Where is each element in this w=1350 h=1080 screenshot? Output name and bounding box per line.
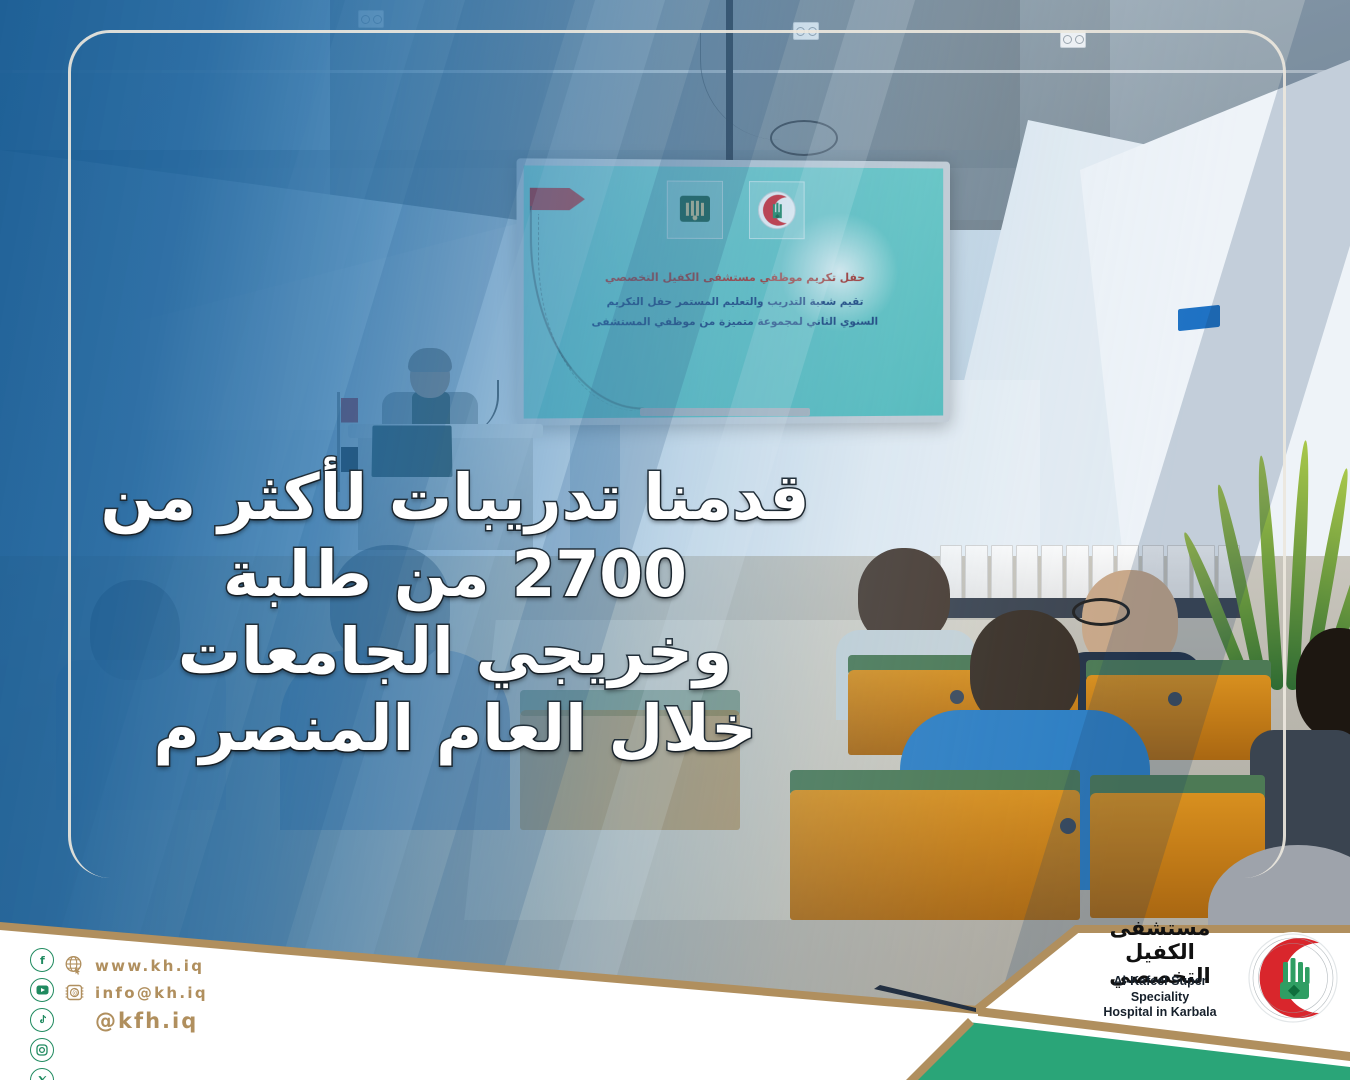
headline-line-4: خلال العام المنصرم [60,691,850,768]
x-twitter-icon[interactable] [30,1068,54,1080]
social-links[interactable]: f [30,948,54,1080]
brand-block: مستشفى الكفيل التخصصي Al-Kafeel Super Sp… [1085,930,1350,1060]
svg-text:f: f [40,954,45,966]
handle-row[interactable]: @kfh.iq [64,1009,208,1033]
email-icon: @ [64,982,85,1003]
headline-line-1: قدمنا تدريبات لأكثر من [60,460,850,537]
handle-text: @kfh.iq [95,1009,198,1033]
page-title: قدمنا تدريبات لأكثر من 2700 من طلبة وخري… [60,460,850,767]
poster-canvas: حفل تكريم موظفي مستشفى الكفيل التخصصي تق… [0,0,1350,1080]
globe-icon [64,955,85,976]
website-row[interactable]: www.kh.iq [64,955,208,976]
contact-info: www.kh.iq @ info@kh.iq @kfh.iq [64,955,208,1039]
facebook-icon[interactable]: f [30,948,54,972]
brand-text: مستشفى الكفيل التخصصي Al-Kafeel Super Sp… [1085,930,1235,1021]
email-row[interactable]: @ info@kh.iq [64,982,208,1003]
svg-text:@: @ [72,989,79,997]
brand-name-english-line-2: Hospital in Karbala [1085,1005,1235,1021]
instagram-icon[interactable] [30,1038,54,1062]
brand-name-arabic: مستشفى الكفيل التخصصي [1085,934,1235,970]
youtube-icon[interactable] [30,978,54,1002]
email-text: info@kh.iq [95,984,208,1002]
website-text: www.kh.iq [95,957,204,975]
tiktok-icon[interactable] [30,1008,54,1032]
headline-line-3: وخريجي الجامعات [60,614,850,691]
headline-line-2: 2700 من طلبة [60,537,850,614]
al-kafeel-crescent-logo [1245,930,1341,1026]
